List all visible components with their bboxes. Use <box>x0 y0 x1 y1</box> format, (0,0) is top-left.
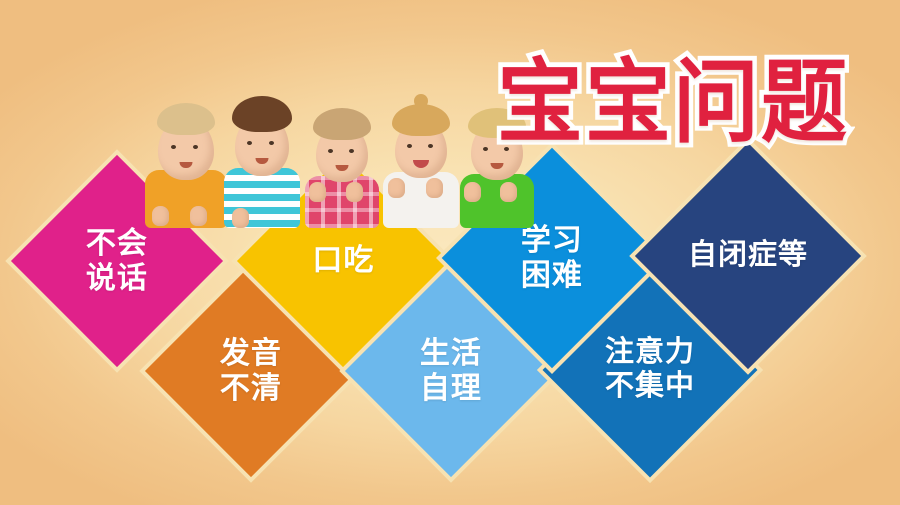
child-3-hand-right <box>346 182 363 202</box>
poster-title: 宝宝问题 <box>497 52 857 148</box>
five-children-lying-photo <box>128 96 494 228</box>
child-2-hand-left <box>232 208 249 228</box>
diamond-label-daily-self-care: 生活 自理 <box>420 336 482 406</box>
child-3-hand-left <box>309 182 326 202</box>
child-1-hand-left <box>152 206 169 226</box>
page-title: 宝宝问题 <box>497 52 857 154</box>
child-2-hair <box>232 96 292 132</box>
diamond-label-stuttering: 口吃 <box>312 243 374 278</box>
diamond-label-unclear-pronunciation: 发音 不清 <box>220 336 282 406</box>
child-4-hand-right <box>426 178 443 198</box>
child-2 <box>216 98 308 228</box>
child-4-ponytail <box>414 94 428 108</box>
child-4-hair <box>392 104 450 136</box>
child-5-hand-left <box>464 182 481 202</box>
child-1-hair <box>157 103 215 135</box>
poster-canvas: 宝宝问题 不会 说话 发音 不清 口吃 生活 自理 学习 困难 注意力 不集中 … <box>0 0 900 505</box>
diamond-label-inattention: 注意力 不集中 <box>605 336 695 404</box>
diamond-label-cannot-speak: 不会 说话 <box>86 226 148 296</box>
child-5-hand-right <box>500 182 517 202</box>
diamond-label-autism-etc: 自闭症等 <box>688 239 808 273</box>
diamond-label-learning-difficulty: 学习 困难 <box>521 223 583 293</box>
child-3-hair <box>313 108 371 140</box>
child-4-hand-left <box>388 178 405 198</box>
child-1-hand-right <box>190 206 207 226</box>
